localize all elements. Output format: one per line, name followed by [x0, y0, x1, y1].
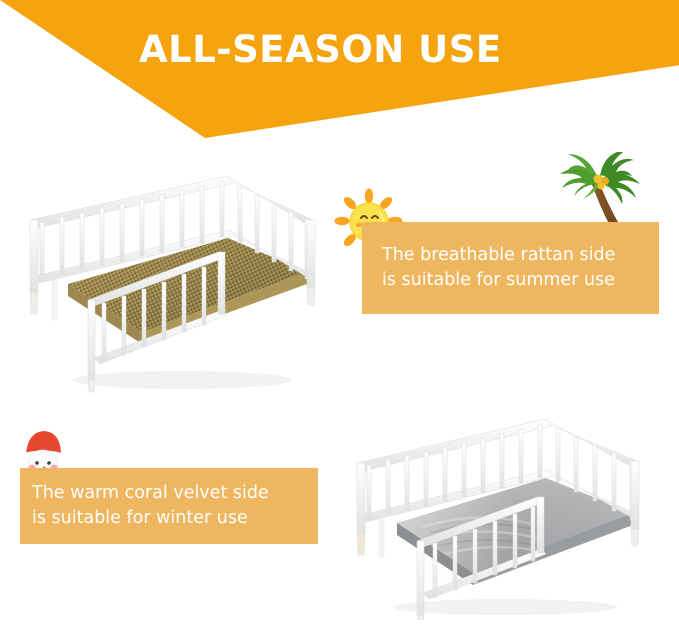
caption-winter-line1: The warm coral velvet side — [32, 481, 318, 506]
page-title: ALL-SEASON USE — [139, 28, 559, 71]
caption-box-winter: The warm coral velvet side is suitable f… — [20, 468, 318, 544]
caption-box-summer: The breathable rattan side is suitable f… — [362, 222, 659, 314]
caption-summer-line2: is suitable for summer use — [374, 268, 659, 293]
product-photo-winter-bed — [345, 415, 660, 620]
caption-winter-line2: is suitable for winter use — [32, 506, 318, 531]
header-banner — [0, 0, 679, 150]
caption-summer-line1: The breathable rattan side — [374, 243, 659, 268]
product-photo-summer-bed — [22, 172, 332, 397]
